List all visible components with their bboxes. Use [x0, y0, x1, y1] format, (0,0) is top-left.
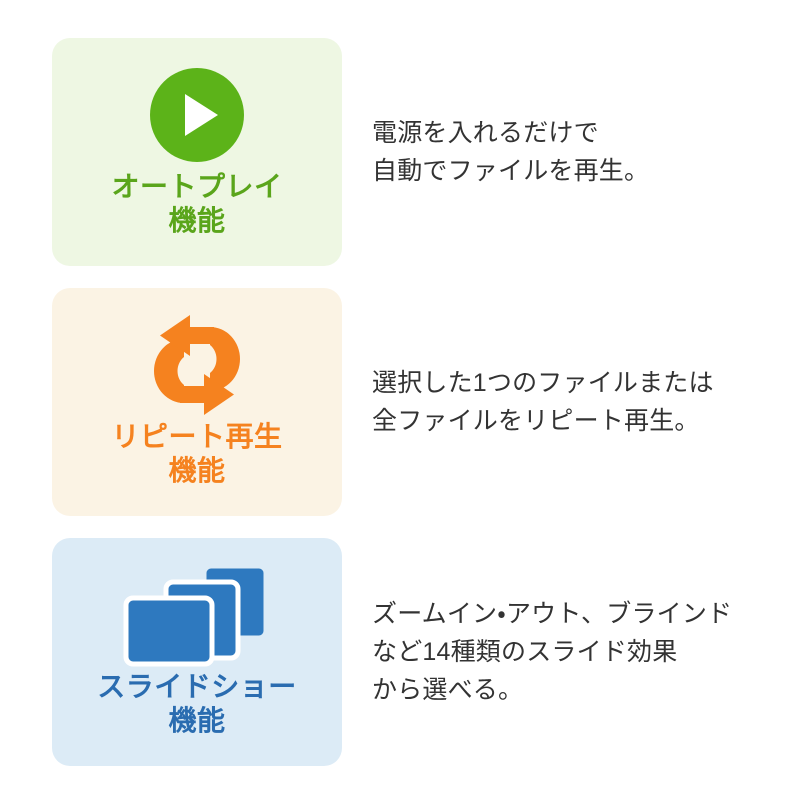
- feature-description-autoplay: 電源を入れるだけで 自動でファイルを再生。: [372, 114, 800, 190]
- repeat-arrows-icon: [138, 315, 256, 415]
- description-line: から選べる。: [372, 671, 800, 709]
- feature-label-autoplay: オートプレイ 機能: [111, 170, 282, 238]
- feature-label-line2: 機能: [111, 204, 282, 238]
- description-line: ズームイン・アウト、ブラインド: [372, 595, 800, 633]
- feature-card-slideshow: スライドショー 機能: [52, 538, 342, 766]
- icon-area: [52, 564, 342, 666]
- feature-row-repeat: リピート再生 機能 選択した1つのファイルまたは 全ファイルをリピート再生。: [0, 288, 800, 516]
- feature-description-repeat: 選択した1つのファイルまたは 全ファイルをリピート再生。: [372, 364, 800, 440]
- play-circle-icon: [150, 68, 244, 162]
- feature-label-line1: リピート再生: [111, 421, 282, 452]
- description-line: など14種類のスライド効果: [372, 633, 800, 671]
- description-line: 自動でファイルを再生。: [372, 152, 800, 190]
- play-triangle-icon: [185, 94, 218, 136]
- feature-label-line1: スライドショー: [97, 671, 297, 702]
- feature-label-slideshow: スライドショー 機能: [97, 670, 297, 738]
- icon-area: [52, 314, 342, 416]
- feature-label-line2: 機能: [97, 704, 297, 738]
- feature-row-autoplay: オートプレイ 機能 電源を入れるだけで 自動でファイルを再生。: [0, 38, 800, 266]
- description-line: 全ファイルをリピート再生。: [372, 402, 800, 440]
- feature-card-repeat: リピート再生 機能: [52, 288, 342, 516]
- description-line: 電源を入れるだけで: [372, 114, 800, 152]
- feature-card-autoplay: オートプレイ 機能: [52, 38, 342, 266]
- feature-label-repeat: リピート再生 機能: [111, 420, 282, 488]
- feature-list: オートプレイ 機能 電源を入れるだけで 自動でファイルを再生。: [0, 0, 800, 800]
- feature-description-slideshow: ズームイン・アウト、ブラインド など14種類のスライド効果 から選べる。: [372, 595, 800, 709]
- feature-label-line1: オートプレイ: [111, 171, 282, 202]
- stacked-slides-icon: [122, 560, 272, 670]
- description-line: 選択した1つのファイルまたは: [372, 364, 800, 402]
- icon-area: [52, 64, 342, 166]
- feature-label-line2: 機能: [111, 454, 282, 488]
- feature-row-slideshow: スライドショー 機能 ズームイン・アウト、ブラインド など14種類のスライド効果…: [0, 538, 800, 766]
- slide-front: [126, 598, 212, 664]
